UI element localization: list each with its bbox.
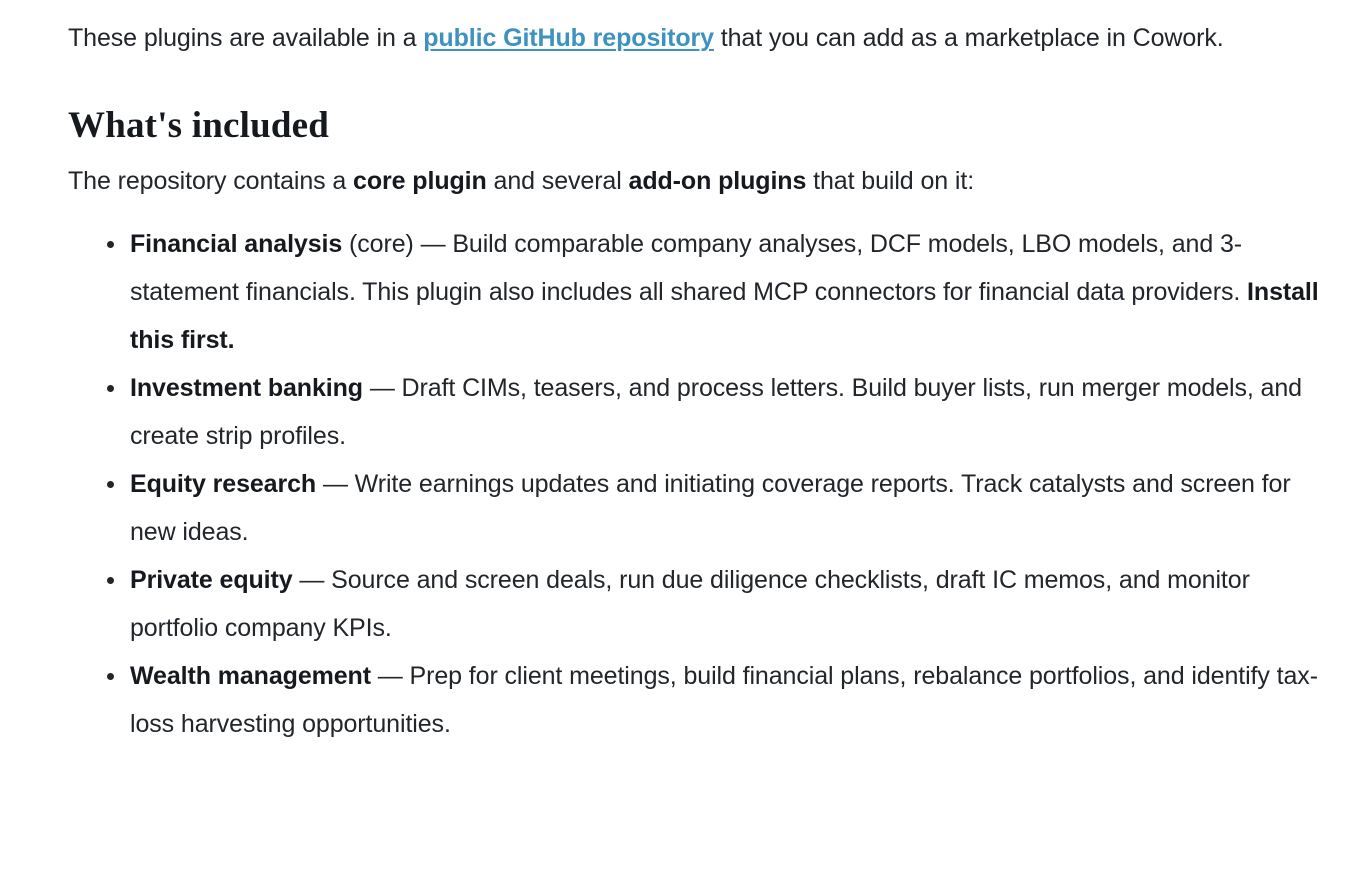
plugin-term: Private equity [130,566,293,594]
bullet-icon [107,385,114,392]
section-heading-whats-included: What's included [68,62,1332,149]
bullet-icon [107,577,114,584]
list-item: Equity research — Write earnings updates… [68,460,1332,556]
plugin-description: — Source and screen deals, run due dilig… [130,566,1250,642]
plugin-term: Investment banking [130,374,363,402]
lead-text-between: and several [487,167,629,195]
plugin-term: Equity research [130,470,316,498]
intro-paragraph: These plugins are available in a public … [68,0,1318,62]
add-on-plugins-term: add-on plugins [629,167,807,195]
list-item: Financial analysis (core) — Build compar… [68,220,1332,364]
public-github-repository-link[interactable]: public GitHub repository [423,24,714,52]
list-item: Private equity — Source and screen deals… [68,556,1332,652]
documentation-content: These plugins are available in a public … [0,0,1372,748]
intro-text-after-link: that you can add as a marketplace in Cow… [714,24,1224,52]
lead-text-before-core: The repository contains a [68,167,353,195]
list-item: Investment banking — Draft CIMs, teasers… [68,364,1332,460]
bullet-icon [107,241,114,248]
plugin-term: Wealth management [130,662,371,690]
core-plugin-term: core plugin [353,167,487,195]
bullet-icon [107,481,114,488]
bullet-icon [107,673,114,680]
plugin-list: Financial analysis (core) — Build compar… [68,205,1332,748]
plugin-term: Financial analysis [130,230,342,258]
intro-text-before-link: These plugins are available in a [68,24,423,52]
lead-text-after: that build on it: [806,167,974,195]
section-lead-paragraph: The repository contains a core plugin an… [68,149,1332,205]
list-item: Wealth management — Prep for client meet… [68,652,1332,748]
